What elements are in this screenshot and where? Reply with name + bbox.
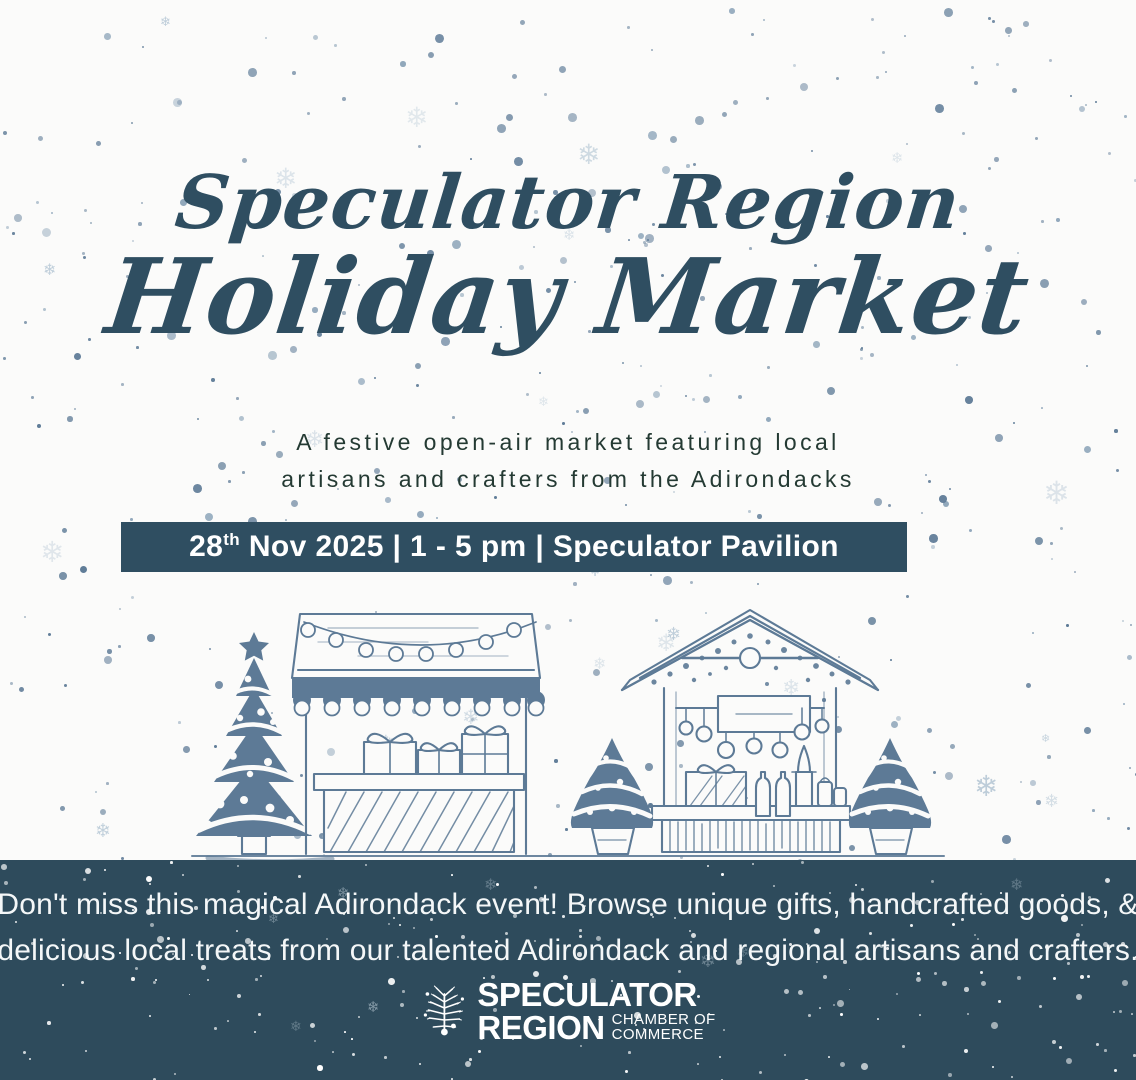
subtitle-line-2: artisans and crafters from the Adirondac… — [0, 461, 1136, 498]
potted-topiary-tree-right-icon — [849, 738, 931, 854]
poster-headline: Speculator Region Holiday Market — [0, 160, 1136, 352]
bottom-copy-line-1: Don't miss this magical Adirondack event… — [0, 882, 1136, 928]
chalet-stall-icon — [622, 610, 878, 852]
logo-word-region: REGION — [477, 1011, 604, 1044]
headline-line-1: Speculator Region — [0, 160, 1136, 246]
date-banner-text: 28th Nov 2025 | 1 - 5 pm | Speculator Pa… — [189, 530, 839, 564]
logo-sub-commerce: COMMERCE — [612, 1027, 716, 1042]
headline-line-2: Holiday Market — [0, 242, 1136, 352]
snowflake-icon: ❄ — [290, 1020, 302, 1034]
subtitle-line-1: A festive open-air market featuring loca… — [0, 424, 1136, 461]
logo-sub-chamber-of: CHAMBER OF — [612, 1012, 716, 1027]
snowflake-icon: ❄ — [538, 396, 549, 409]
logo-row-bottom: REGION CHAMBER OF COMMERCE — [477, 1011, 715, 1044]
snowflake-icon: ❄ — [160, 16, 171, 29]
pine-branch-icon — [420, 982, 468, 1041]
logo-word-speculator: SPECULATOR — [477, 978, 696, 1011]
market-stall-icon — [292, 614, 545, 854]
logo-row-top: SPECULATOR — [477, 978, 715, 1011]
illustration-svg — [178, 596, 958, 866]
logo-subtitle-stack: CHAMBER OF COMMERCE — [612, 1012, 716, 1044]
bottom-description: Don't miss this magical Adirondack event… — [0, 882, 1136, 974]
chamber-of-commerce-logo: SPECULATOR REGION CHAMBER OF COMMERCE — [420, 978, 715, 1044]
snowflake-icon: ❄ — [405, 104, 428, 132]
potted-topiary-tree-left-icon — [571, 738, 653, 854]
banner-day: 28 — [189, 530, 223, 563]
banner-ordinal: th — [223, 530, 240, 549]
date-time-venue-banner: 28th Nov 2025 | 1 - 5 pm | Speculator Pa… — [121, 522, 907, 572]
bottom-info-band: ❄❄❄❄❄❄❄❄ Don't miss this magical Adirond… — [0, 860, 1136, 1080]
snowflake-icon: ❄ — [40, 538, 64, 567]
holiday-market-illustration — [0, 596, 1136, 866]
holiday-market-poster: ❄❄❄❄❄❄❄❄❄❄❄❄❄❄❄❄❄❄❄❄❄❄❄❄❄❄ Speculator Re… — [0, 0, 1136, 1080]
poster-subtitle: A festive open-air market featuring loca… — [0, 424, 1136, 498]
snowflake-icon: ❄ — [367, 1000, 380, 1015]
bottom-copy-line-2: delicious local treats from our talented… — [0, 928, 1136, 974]
banner-rest: Nov 2025 | 1 - 5 pm | Speculator Pavilio… — [240, 530, 839, 563]
logo-wordmark: SPECULATOR REGION CHAMBER OF COMMERCE — [477, 978, 715, 1044]
